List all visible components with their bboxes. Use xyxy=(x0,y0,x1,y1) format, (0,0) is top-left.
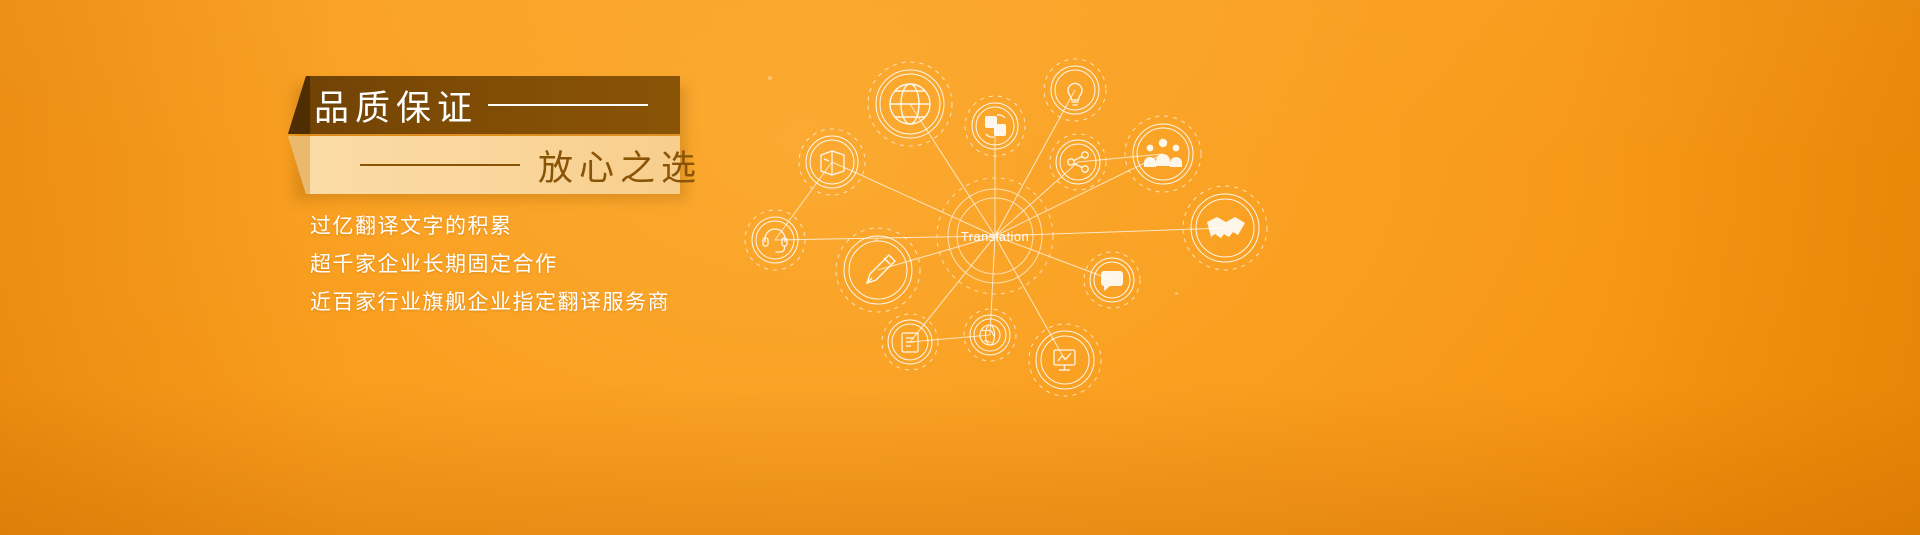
selling-point-1: 过亿翻译文字的积累 xyxy=(310,208,670,246)
people-icon xyxy=(1144,139,1182,167)
document-node xyxy=(882,314,938,370)
book-icon xyxy=(821,151,844,175)
chat-node xyxy=(1084,252,1140,308)
selling-point-2: 超千家企业长期固定合作 xyxy=(310,246,670,284)
chat-icon xyxy=(1101,271,1123,291)
selling-points: 过亿翻译文字的积累 超千家企业长期固定合作 近百家行业旗舰企业指定翻译服务商 xyxy=(310,208,670,322)
globe-icon xyxy=(890,84,930,124)
ribbon-bottom-text: 放心之选 xyxy=(538,140,702,191)
globe-node xyxy=(868,62,952,146)
handshake-node xyxy=(1183,186,1267,270)
headset-icon xyxy=(763,229,787,252)
ribbon-top-text: 品质保证 xyxy=(314,80,478,131)
ribbon-top-rule xyxy=(488,104,648,106)
hub-label: Translation xyxy=(961,229,1029,244)
ribbon-top-row: 品质保证 xyxy=(288,76,706,134)
translation-network-graphic: Translation xyxy=(720,30,1320,430)
translate-icon xyxy=(985,115,1006,137)
document-icon xyxy=(902,333,918,352)
selling-point-3: 近百家行业旗舰企业指定翻译服务商 xyxy=(310,284,670,322)
ribbon-headline: 品质保证 放心之选 xyxy=(288,76,680,194)
people-node xyxy=(1125,116,1201,192)
spark-dot-1 xyxy=(768,76,772,80)
promo-banner: 品质保证 放心之选 过亿翻译文字的积累 超千家企业长期固定合作 近百家行业旗舰企… xyxy=(0,0,1920,535)
spark-dot-3 xyxy=(1175,292,1178,295)
spark-dot-2 xyxy=(875,238,878,241)
ribbon-bottom-rule xyxy=(360,164,520,166)
lightbulb-icon xyxy=(1068,83,1082,105)
handshake-icon xyxy=(1207,217,1245,238)
ribbon-bottom-row: 放心之选 xyxy=(288,136,720,194)
book-node xyxy=(799,129,865,195)
